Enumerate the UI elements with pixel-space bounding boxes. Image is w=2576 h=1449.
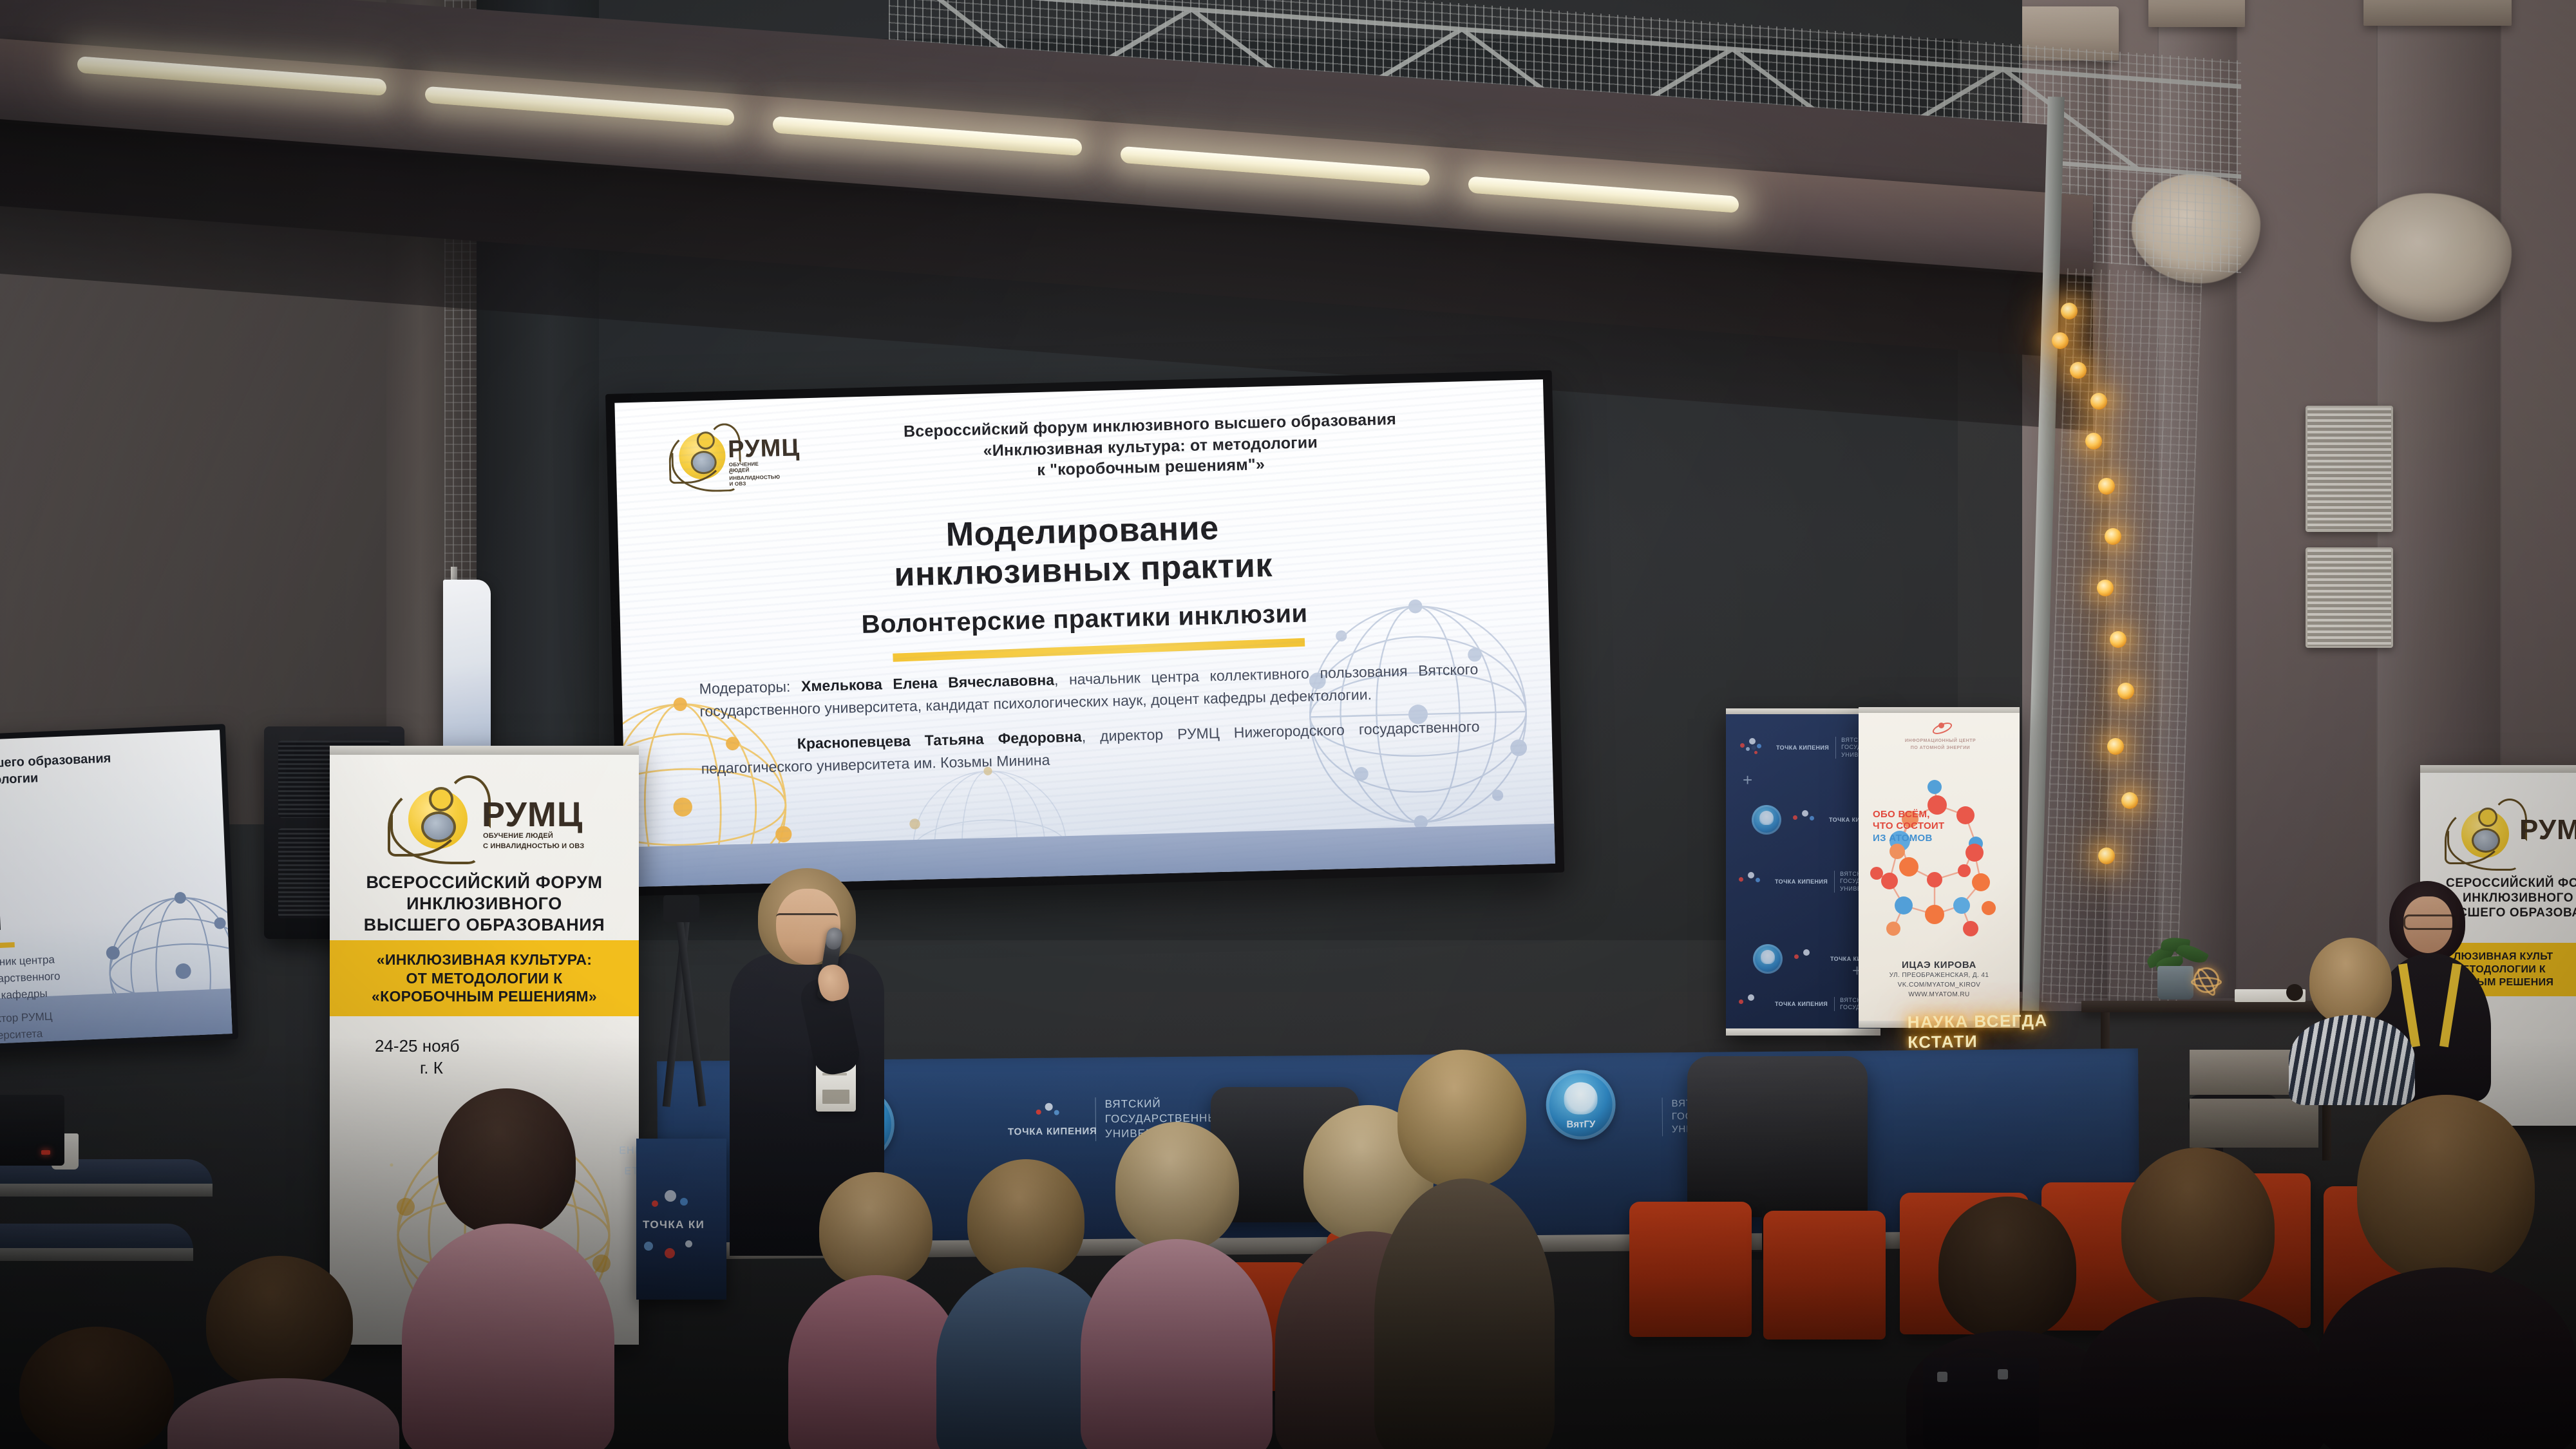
- moderator-paragraph-1: Модераторы: Хмелькова Елена Вячеславовна…: [699, 658, 1479, 723]
- neon-sign-nauka: НАУКА ВСЕГДА КСТАТИ: [1908, 1015, 2121, 1048]
- rollup-theme-line-2: ОТ МЕТОДОЛОГИИ К: [336, 969, 632, 988]
- bench-edge: [0, 1248, 193, 1261]
- av-equipment: [0, 1095, 64, 1166]
- glasses-icon: [776, 913, 838, 927]
- attendee-hair: [1397, 1050, 1526, 1188]
- monitor-header-2: ьтура: от методологии: [0, 771, 39, 791]
- atom-footer: ИЦАЭ КИРОВА УЛ. ПРЕОБРАЖЕНСКАЯ, Д. 41 VK…: [1859, 960, 2020, 999]
- atom-footer-address: УЛ. ПРЕОБРАЖЕНСКАЯ, Д. 41: [1859, 971, 2020, 980]
- string-light-bulb: [2121, 792, 2138, 809]
- string-light-bulb: [2098, 848, 2115, 864]
- plaster-ornament: [2351, 193, 2512, 322]
- fluorescent-tube: [773, 116, 1082, 156]
- string-light-bulb: [2090, 393, 2107, 410]
- attendee-clothing: [2080, 1297, 2325, 1449]
- rumc-logo: РУМЦ: [2443, 799, 2576, 863]
- audience-member-standing: [2293, 938, 2409, 1079]
- icae-org-line-2: ПО АТОМНОЙ ЭНЕРГИИ: [1892, 745, 1989, 752]
- string-light-bulb: [2110, 631, 2126, 648]
- tochka-brand-label: ТОЧКА КИПЕНИЯ: [1008, 1126, 1097, 1137]
- rollup-top-rail: [2420, 765, 2576, 773]
- rollup-top-rail: [1859, 707, 2020, 713]
- audience-member: [2318, 1095, 2576, 1449]
- tochka-kipeniya-dot-logo: [1735, 738, 1770, 757]
- vyatgu-roundel-label: ВятГУ: [1546, 1119, 1616, 1130]
- air-vent: [2306, 547, 2393, 648]
- rollup-theme-block: «ИНКЛЮЗИВНАЯ КУЛЬТУРА: ОТ МЕТОДОЛОГИИ К …: [330, 940, 639, 1016]
- icae-org-line-1: ИНФОРМАЦИОННЫЙ ЦЕНТР: [1892, 738, 1989, 745]
- molecule-graphic: [1868, 777, 2016, 957]
- slide-moderators-block: Модераторы: Хмелькова Елена Вячеславовна…: [699, 658, 1481, 793]
- tochka-kipeniya-dot-logo: [1789, 949, 1824, 969]
- atom-headline: ОБО ВСЁМ, ЧТО СОСТОИТ ИЗ АТОМОВ: [1873, 809, 1944, 844]
- tripod-head: [663, 895, 699, 922]
- string-light-bulb: [2052, 332, 2069, 349]
- rumc-logo: РУМЦ ОБУЧЕНИЕ ЛЮДЕЙ С ИНВАЛИДНОСТЬЮ И ОВ…: [385, 775, 591, 856]
- status-led: [41, 1150, 50, 1155]
- atom-headline-line-2: ЧТО СОСТОИТ: [1873, 820, 1944, 832]
- rumc-tagline-2: С ИНВАЛИДНОСТЬЮ И ОВЗ: [483, 842, 584, 850]
- fluorescent-tube: [1121, 146, 1430, 186]
- string-light-bulb: [2061, 303, 2078, 319]
- monitor-body-2: государственного: [0, 970, 61, 987]
- audience-member: [808, 1172, 943, 1449]
- audience-member: [0, 1327, 206, 1449]
- audience-member: [412, 1088, 599, 1449]
- attendee-clothing: [2318, 1267, 2576, 1449]
- audience-member: [1378, 1050, 1539, 1449]
- rollup-bottom-rail: [1726, 1028, 1880, 1036]
- string-light-bulb: [2107, 738, 2124, 755]
- icae-org-label: ИНФОРМАЦИОННЫЙ ЦЕНТР ПО АТОМНОЙ ЭНЕРГИИ: [1892, 738, 1989, 752]
- vyatgu-roundel: [1753, 944, 1783, 974]
- audience-chair: [1763, 1211, 1886, 1340]
- air-vent: [2306, 406, 2393, 532]
- rollup-date-line-2: г. К: [349, 1057, 562, 1079]
- attendee-hair: [438, 1088, 576, 1235]
- tochka-brand-label: ТОЧКА КИПЕНИЯ: [1775, 878, 1828, 885]
- rollup-title-line-3: ВЫСШЕГО ОБРАЗОВАНИЯ: [340, 914, 629, 936]
- audience-member: [953, 1159, 1095, 1449]
- vyatgu-roundel: ВятГУ: [1546, 1070, 1616, 1140]
- fluorescent-tube: [425, 86, 734, 126]
- attendee-hair: [19, 1327, 174, 1449]
- attendee-hair: [819, 1172, 933, 1287]
- rumc-logo: РУМЦ ОБУЧЕНИЕ ЛЮДЕЙ С ИНВАЛИДНОСТЬЮ И ОВ…: [668, 421, 766, 496]
- moderators-label: Модераторы:: [699, 678, 790, 697]
- tochka-kipeniya-dot-logo: [1734, 872, 1768, 891]
- atom-headline-line-3: ИЗ АТОМОВ: [1873, 833, 1944, 844]
- rollup-banner-tochka-kipeniya: ТОЧКА КИПЕНИЯ ВЯТСКИЙ ГОСУДАРСТВЕННЫЙ УН…: [1726, 708, 1880, 1036]
- moderator-2-name: Краснопевцева Татьяна Федоровна: [797, 728, 1081, 752]
- projection-screen[interactable]: РУМЦ ОБУЧЕНИЕ ЛЮДЕЙ С ИНВАЛИДНОСТЬЮ И ОВ…: [605, 370, 1564, 896]
- bench-edge: [0, 1184, 213, 1197]
- moderator-1-name: Хмелькова Елена Вячеславовна: [801, 672, 1055, 695]
- audience-member: [2093, 1148, 2306, 1449]
- string-light-bulb: [2085, 433, 2102, 450]
- atom-footer-site: WWW.MYATOM.RU: [1859, 990, 2020, 999]
- attendee-hair: [2121, 1148, 2275, 1309]
- rollup-date-line-1: 24-25 нояб: [349, 1036, 562, 1057]
- tochka-kipeniya-dot-logo: [1734, 994, 1768, 1014]
- rollup-banner-icae-atom: ИНФОРМАЦИОННЫЙ ЦЕНТР ПО АТОМНОЙ ЭНЕРГИИ: [1859, 707, 2020, 1028]
- handbag-buckle: [1998, 1369, 2008, 1379]
- screen-bezel: РУМЦ ОБУЧЕНИЕ ЛЮДЕЙ С ИНВАЛИДНОСТЬЮ И ОВ…: [605, 370, 1564, 896]
- monitor-screen: люзивного высшего образования ьтура: от …: [0, 730, 232, 1045]
- rollup-top-rail: [1726, 708, 1880, 714]
- string-light-bulb: [2105, 528, 2121, 545]
- tiered-bench-top: [0, 1224, 193, 1249]
- stage-armchair: [1687, 1056, 1868, 1217]
- moderator-paragraph-2: Краснопевцева Татьяна Федоровна, директо…: [700, 715, 1480, 780]
- icae-mark-icon: [1928, 720, 1954, 737]
- attendee-hair: [967, 1159, 1084, 1280]
- attendee-clothing: [1374, 1179, 1555, 1449]
- rumc-tagline-2: С ИНВАЛИДНОСТЬЮ И ОВЗ: [729, 468, 781, 487]
- string-light-bulb: [2098, 478, 2115, 495]
- handbag-buckle: [1937, 1372, 1947, 1382]
- vyatgu-roundel: [1752, 805, 1781, 835]
- rollup-title-line-1: ВСЕРОССИЙСКИЙ ФОРУМ: [340, 872, 629, 893]
- monitor-subtitle: ИНКЛЮЗИИ: [0, 912, 2, 940]
- plant-pot: [2157, 966, 2193, 999]
- concrete-block: [2190, 1099, 2318, 1148]
- rumc-wordmark: РУМЦ: [2519, 814, 2576, 846]
- attendee-clothing: [402, 1224, 614, 1449]
- glasses-icon: [2403, 914, 2456, 930]
- attendee-striped-shirt: [2289, 1015, 2415, 1105]
- rollup-date-block: 24-25 нояб г. К: [349, 1036, 562, 1079]
- monitor-accent-rule: [0, 942, 15, 953]
- audience-chair: [1629, 1202, 1752, 1337]
- rumc-wordmark: РУМЦ: [728, 434, 800, 464]
- string-light-bulb: [2070, 362, 2087, 379]
- monitor-body-1: , начальник центра: [0, 953, 55, 970]
- rollup-forum-title: ВСЕРОССИЙСКИЙ ФОРУМ ИНКЛЮЗИВНОГО ВЫСШЕГО…: [340, 872, 629, 936]
- attendee-hair: [1115, 1122, 1239, 1251]
- atom-headline-line-1: ОБО ВСЁМ,: [1873, 809, 1944, 820]
- slide-forum-header: Всероссийский форум инклюзивного высшего…: [781, 402, 1519, 487]
- atom-neon-icon: [2193, 967, 2219, 993]
- rollup-theme-line-1: «ИНКЛЮЗИВНАЯ КУЛЬТУРА:: [336, 951, 632, 969]
- slide-header: РУМЦ ОБУЧЕНИЕ ЛЮДЕЙ С ИНВАЛИДНОСТЬЮ И ОВ…: [668, 402, 1519, 495]
- attendee-hair: [2309, 938, 2392, 1024]
- atom-footer-name: ИЦАЭ КИРОВА: [1859, 960, 2020, 971]
- attendee-clothing: [1081, 1239, 1273, 1449]
- plus-glyph-icon: +: [1743, 770, 1752, 790]
- attendee-hair: [1938, 1197, 2076, 1340]
- slide-accent-rule: [893, 638, 1305, 662]
- string-light-bulb: [2097, 580, 2114, 596]
- side-monitor[interactable]: люзивного высшего образования ьтура: от …: [0, 724, 239, 1070]
- tochka-brand-label: ТОЧКА КИПЕНИЯ: [1776, 744, 1829, 751]
- attendee-hair: [206, 1256, 353, 1388]
- column-capital: [2363, 0, 2512, 26]
- handbag: [1923, 1358, 2039, 1449]
- audience-member: [1103, 1122, 1251, 1449]
- string-light-bulb: [2117, 683, 2134, 699]
- tochka-kipeniya-dot-logo: [1788, 810, 1823, 829]
- rollup-theme-line-3: «КОРОБОЧНЫМ РЕШЕНИЯМ»: [336, 987, 632, 1006]
- column-capital: [2148, 0, 2245, 27]
- attendee-hair: [2357, 1095, 2535, 1282]
- audience-member: [180, 1256, 386, 1449]
- tochka-brand-label: ТОЧКА КИПЕНИЯ: [1775, 1001, 1828, 1007]
- monitor-bezel: люзивного высшего образования ьтура: от …: [0, 724, 238, 1051]
- tochka-floor-sign-label: ТОЧКА КИ: [643, 1218, 705, 1231]
- presentation-slide: РУМЦ ОБУЧЕНИЕ ЛЮДЕЙ С ИНВАЛИДНОСТЬЮ И ОВ…: [614, 379, 1555, 887]
- rollup-title-line-2: ИНКЛЮЗИВНОГО: [340, 893, 629, 914]
- rumc-tagline-1: ОБУЧЕНИЕ ЛЮДЕЙ: [483, 832, 553, 840]
- vyatgu-bird-icon: [1564, 1083, 1597, 1115]
- conference-hall-photo: РУМЦ ОБУЧЕНИЕ ЛЮДЕЙ С ИНВАЛИДНОСТЬЮ И ОВ…: [0, 0, 2576, 1449]
- tochka-kipeniya-dot-logo: [1031, 1103, 1066, 1122]
- atom-footer-vk: VK.COM/MYATOM_KIROV: [1859, 980, 2020, 990]
- sf-uni-line-1: ВЯТСКИЙ: [1105, 1096, 1227, 1112]
- fluorescent-tube: [1468, 176, 1739, 213]
- rumc-wordmark: РУМЦ: [482, 795, 583, 835]
